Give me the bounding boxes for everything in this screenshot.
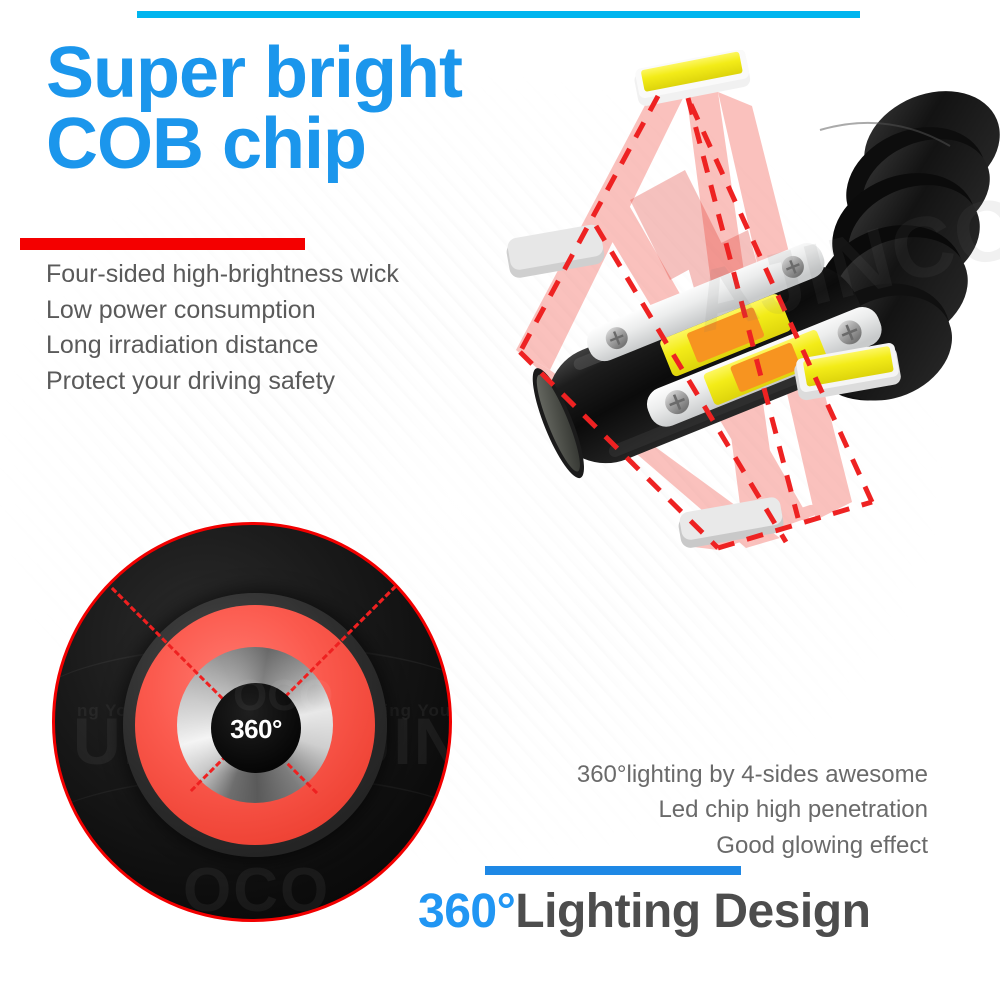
bottom-accent-bar xyxy=(485,866,741,875)
circle-core: OCO 360° xyxy=(213,685,299,771)
feature-item: Four-sided high-brightness wick xyxy=(46,257,466,293)
top-accent-bar xyxy=(137,11,860,18)
red-divider-bar xyxy=(20,238,305,250)
circle-center-label: 360° xyxy=(230,716,282,742)
bottom-feature-item: Good glowing effect xyxy=(428,828,928,863)
marketing-image-canvas: Super bright COB chip Four-sided high-br… xyxy=(0,0,1000,1000)
led-bulb-graphic xyxy=(480,50,1000,590)
bottom-title: 360°Lighting Design xyxy=(418,884,870,939)
product-illustration xyxy=(480,50,1000,590)
bottom-title-degrees: 360° xyxy=(418,885,515,938)
circle-outer-ring: UIMS AJIN OCO ng Your Life Lighting Your… xyxy=(52,522,452,922)
watermark-text-bottom: OCO xyxy=(183,855,330,922)
feature-item: Low power consumption xyxy=(46,293,466,329)
360-lighting-diagram: UIMS AJIN OCO ng Your Life Lighting Your… xyxy=(52,522,452,922)
bottom-feature-item: Led chip high penetration xyxy=(428,792,928,827)
feature-list: Four-sided high-brightness wick Low powe… xyxy=(46,257,466,399)
bottom-feature-item: 360°lighting by 4-sides awesome xyxy=(428,757,928,792)
bottom-title-rest: Lighting Design xyxy=(515,885,870,938)
bottom-feature-list: 360°lighting by 4-sides awesome Led chip… xyxy=(428,757,928,863)
feature-item: Long irradiation distance xyxy=(46,328,466,364)
headline-line-1: Super bright xyxy=(46,33,462,113)
feature-item: Protect your driving safety xyxy=(46,364,466,400)
